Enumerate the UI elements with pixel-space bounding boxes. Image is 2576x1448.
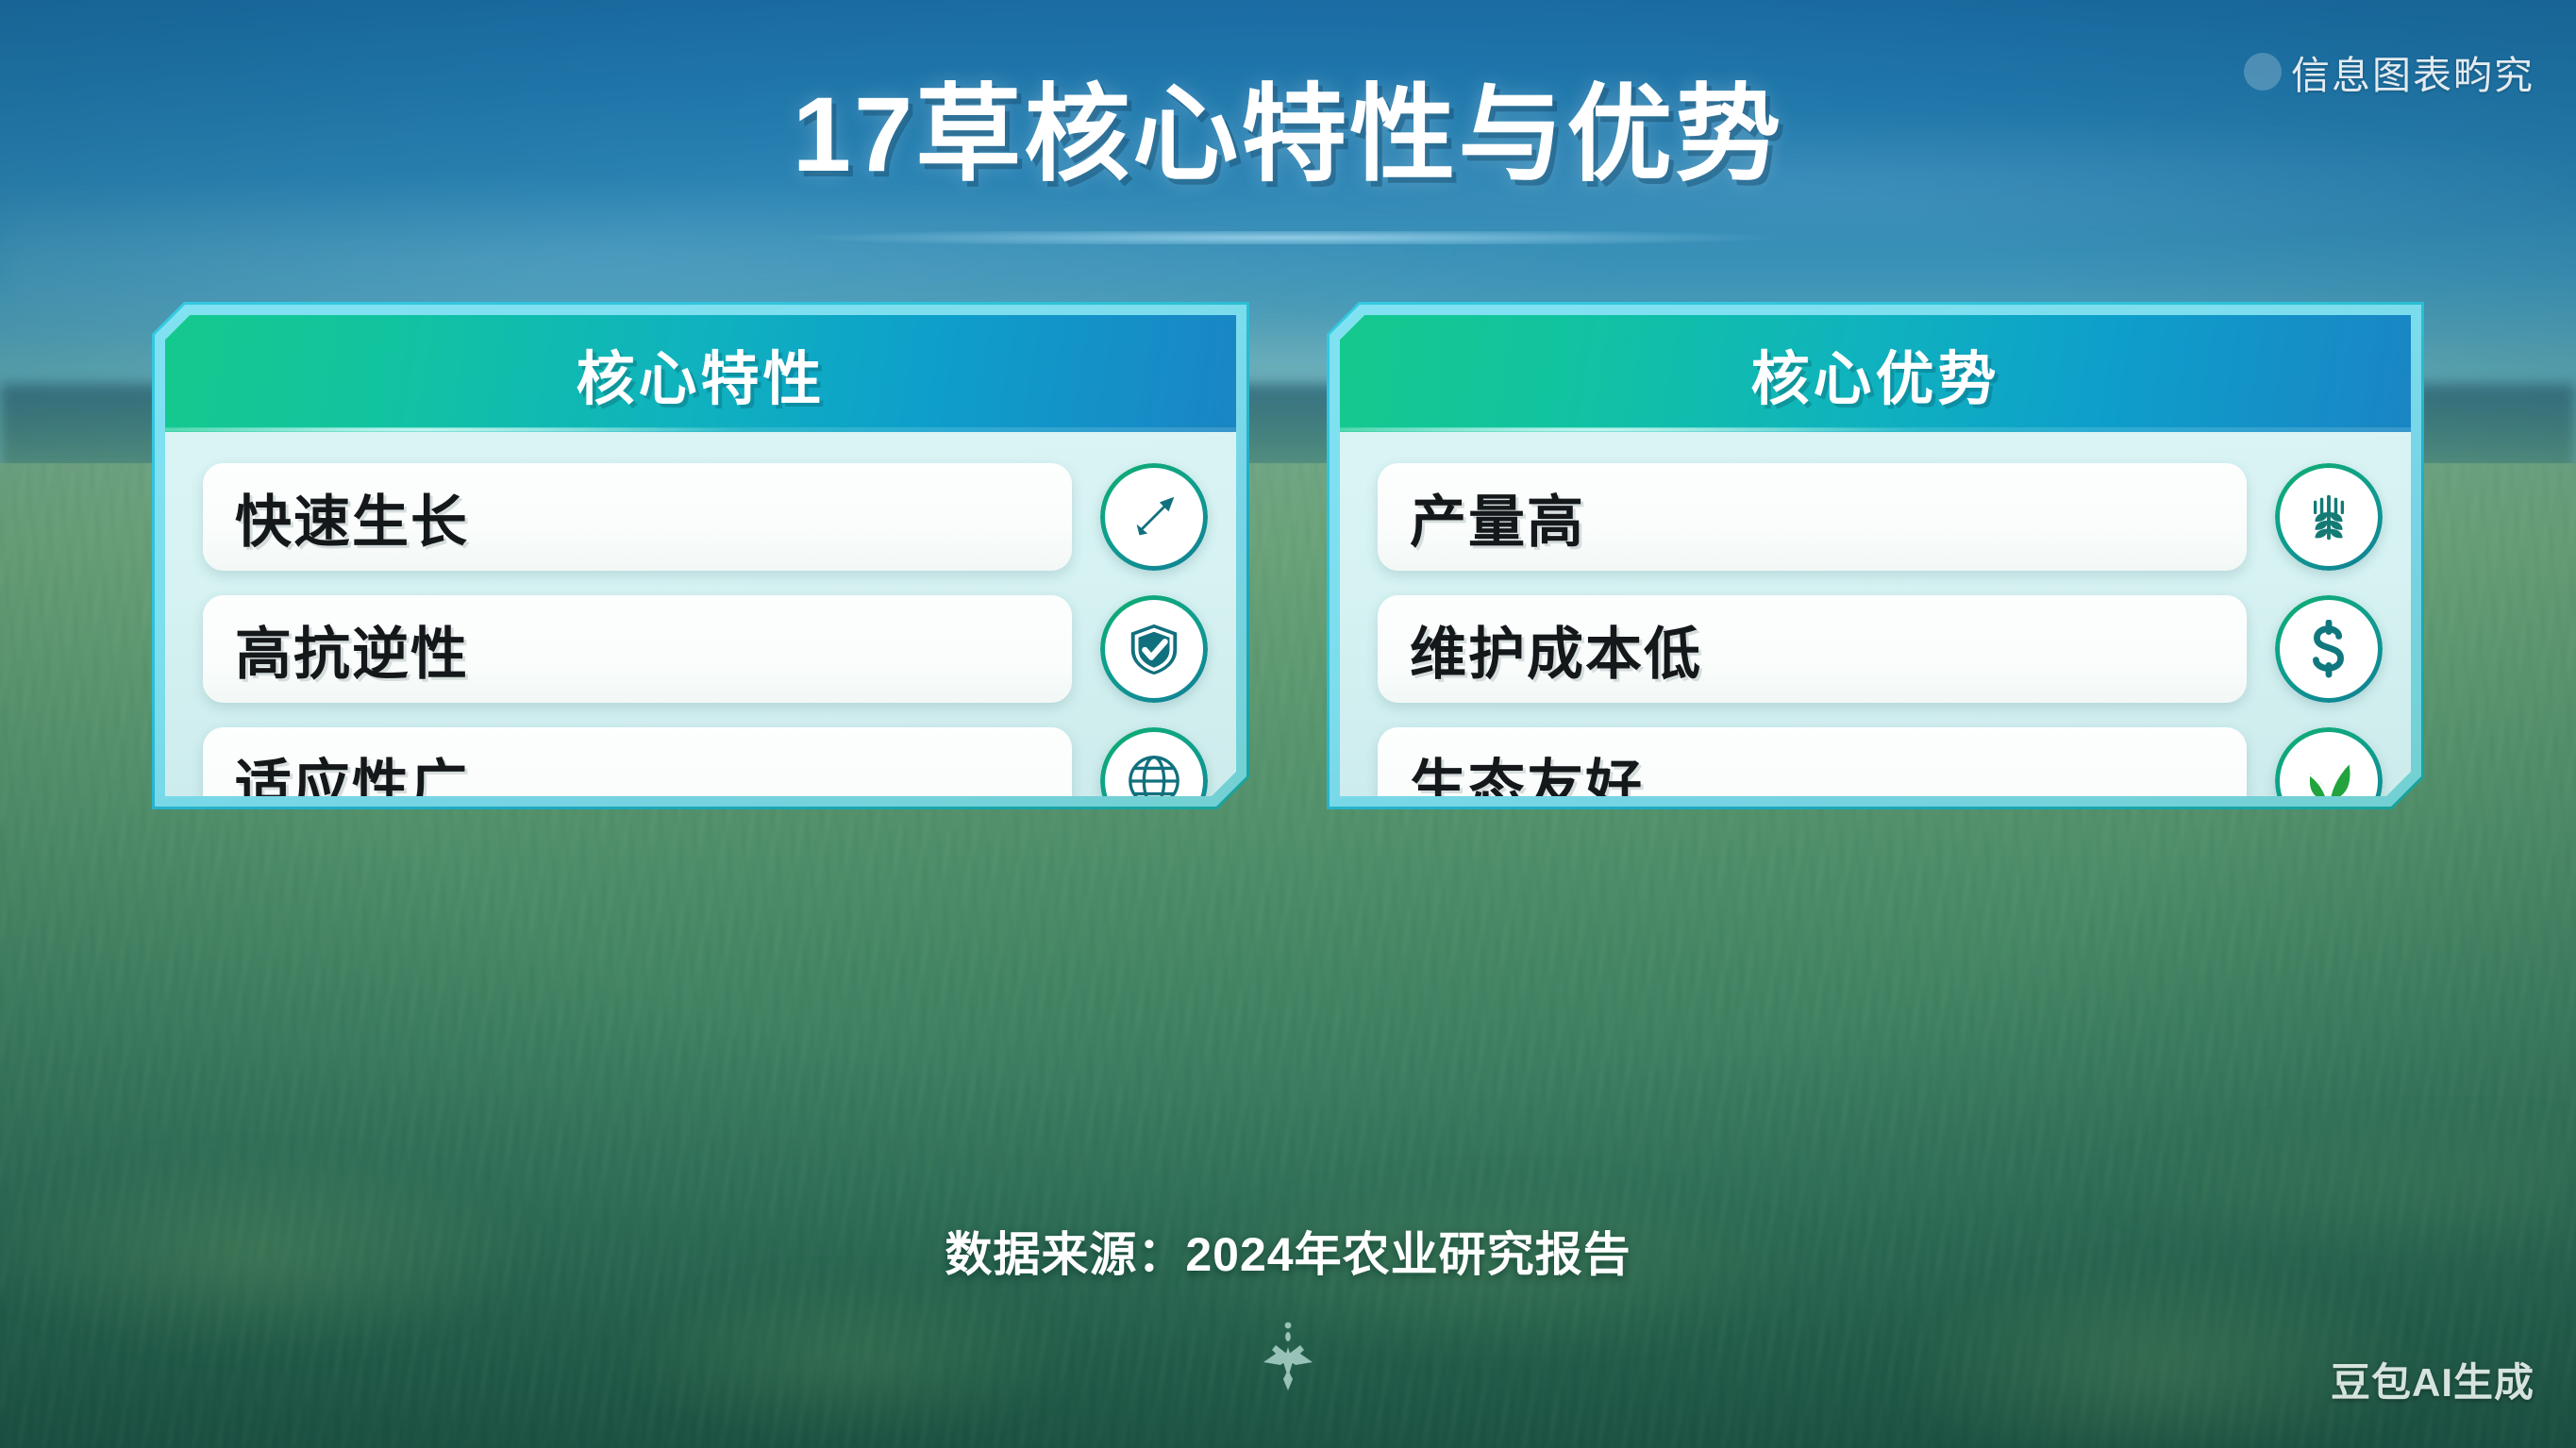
advantage-row-high-yield[interactable]: 产量高 (1378, 463, 2383, 571)
panel-header-right: 核心优势 (1340, 315, 2411, 432)
panel-inner-right: 核心优势 产量高 (1340, 315, 2411, 796)
feature-label-wide-adaptability: 适应性广 (235, 741, 469, 797)
advantage-card-high-yield[interactable]: 产量高 (1378, 463, 2247, 571)
watermark-bottom-right: 豆包AI生成 (2331, 1351, 2534, 1408)
watermark-top-right: 信息图表畇究 (2244, 43, 2534, 100)
watermark-dot-icon (2244, 53, 2282, 91)
panel-inner-left: 核心特性 快速生长 (165, 315, 1236, 796)
panel-core-advantages: 核心优势 产量高 (1327, 302, 2424, 809)
sparkle-icon (1258, 1321, 1318, 1403)
feature-card-fast-growth[interactable]: 快速生长 (203, 463, 1072, 571)
page-title: 17草核心特性与优势 (0, 49, 2576, 202)
title-underglow (604, 231, 1972, 244)
panel-body-left: 快速生长 高抗逆性 (165, 432, 1236, 796)
source-note: 数据来源：2024年农业研究报告 (0, 1217, 2576, 1285)
globe-icon (1100, 727, 1208, 796)
advantage-label-eco-friendly: 生态友好 (1410, 741, 1644, 797)
panel-header-right-label: 核心优势 (1750, 331, 1999, 416)
advantage-card-eco-friendly[interactable]: 生态友好 (1378, 727, 2247, 796)
leaf-icon (2275, 727, 2383, 796)
feature-card-wide-adaptability[interactable]: 适应性广 (203, 727, 1072, 796)
advantage-row-low-maintenance-cost[interactable]: 维护成本低 (1378, 595, 2383, 703)
panel-core-features: 核心特性 快速生长 (152, 302, 1249, 809)
shield-check-icon (1100, 595, 1208, 703)
dollar-icon (2275, 595, 2383, 703)
feature-label-stress-resistance: 高抗逆性 (235, 608, 469, 691)
infographic-canvas: 信息图表畇究 17草核心特性与优势 核心特性 快速生长 (0, 0, 2576, 1448)
watermark-top-right-label: 信息图表畇究 (2291, 43, 2534, 100)
wheat-icon (2275, 463, 2383, 571)
panel-container: 核心特性 快速生长 (0, 302, 2576, 809)
panel-header-left: 核心特性 (165, 315, 1236, 432)
advantage-label-high-yield: 产量高 (1410, 476, 1585, 558)
panel-body-right: 产量高 (1340, 432, 2411, 796)
arrow-up-right-icon (1100, 463, 1208, 571)
advantage-label-low-maintenance-cost: 维护成本低 (1410, 608, 1702, 691)
feature-card-stress-resistance[interactable]: 高抗逆性 (203, 595, 1072, 703)
advantage-card-low-maintenance-cost[interactable]: 维护成本低 (1378, 595, 2247, 703)
feature-row-fast-growth[interactable]: 快速生长 (203, 463, 1208, 571)
feature-row-stress-resistance[interactable]: 高抗逆性 (203, 595, 1208, 703)
feature-row-wide-adaptability[interactable]: 适应性广 (203, 727, 1208, 796)
feature-label-fast-growth: 快速生长 (235, 476, 469, 558)
panel-header-left-label: 核心特性 (576, 331, 825, 416)
advantage-row-eco-friendly[interactable]: 生态友好 (1378, 727, 2383, 796)
